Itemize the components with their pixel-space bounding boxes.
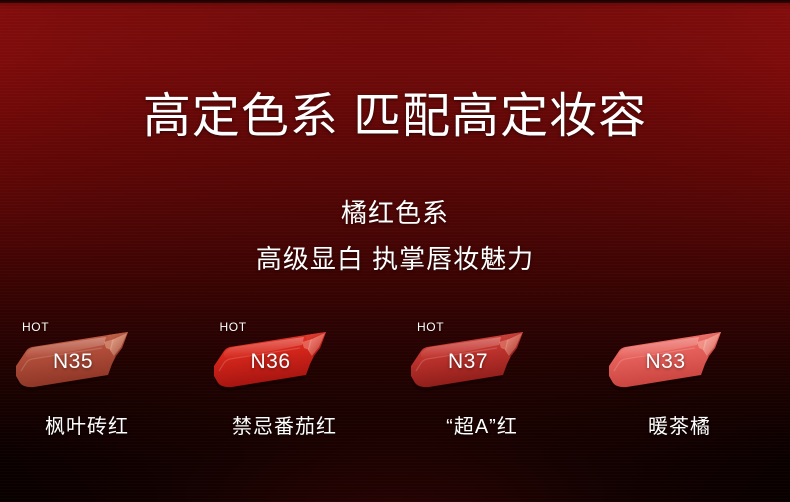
shade-name: 禁忌番茄红	[198, 414, 372, 440]
hot-badge-n35: HOT	[22, 320, 49, 334]
lipstick-bullet-icon	[605, 326, 727, 400]
shade-swatch-row: HOT N35 枫叶砖红 HOT N36 禁忌番茄红 HOT N37 “超A”红…	[0, 316, 790, 446]
promo-banner: 高定色系 匹配高定妆容 橘红色系 高级显白 执掌唇妆魅力 HOT N35 枫叶砖…	[0, 0, 790, 502]
shade-name: “超A”红	[395, 414, 569, 440]
shade-swatch-n37[interactable]: HOT N37 “超A”红	[395, 316, 593, 446]
hot-badge-n36: HOT	[220, 320, 247, 334]
lipstick-bullet-icon	[12, 326, 134, 400]
shade-swatch-n35[interactable]: HOT N35 枫叶砖红	[0, 316, 198, 446]
page-title: 高定色系 匹配高定妆容	[0, 88, 790, 146]
shade-name: 暖茶橘	[593, 414, 767, 440]
subtitle-block: 橘红色系 高级显白 执掌唇妆魅力	[0, 196, 790, 276]
lipstick-bullet-icon	[407, 326, 529, 400]
subtitle-line-2: 高级显白 执掌唇妆魅力	[0, 242, 790, 276]
shade-name: 枫叶砖红	[0, 414, 174, 440]
lipstick-bullet-icon	[210, 326, 332, 400]
subtitle-line-1: 橘红色系	[0, 196, 790, 230]
background-top-edge	[0, 0, 790, 3]
hot-badge-n37: HOT	[417, 320, 444, 334]
shade-swatch-n36[interactable]: HOT N36 禁忌番茄红	[198, 316, 396, 446]
shade-swatch-n33[interactable]: HOT N33 暖茶橘	[593, 316, 790, 446]
